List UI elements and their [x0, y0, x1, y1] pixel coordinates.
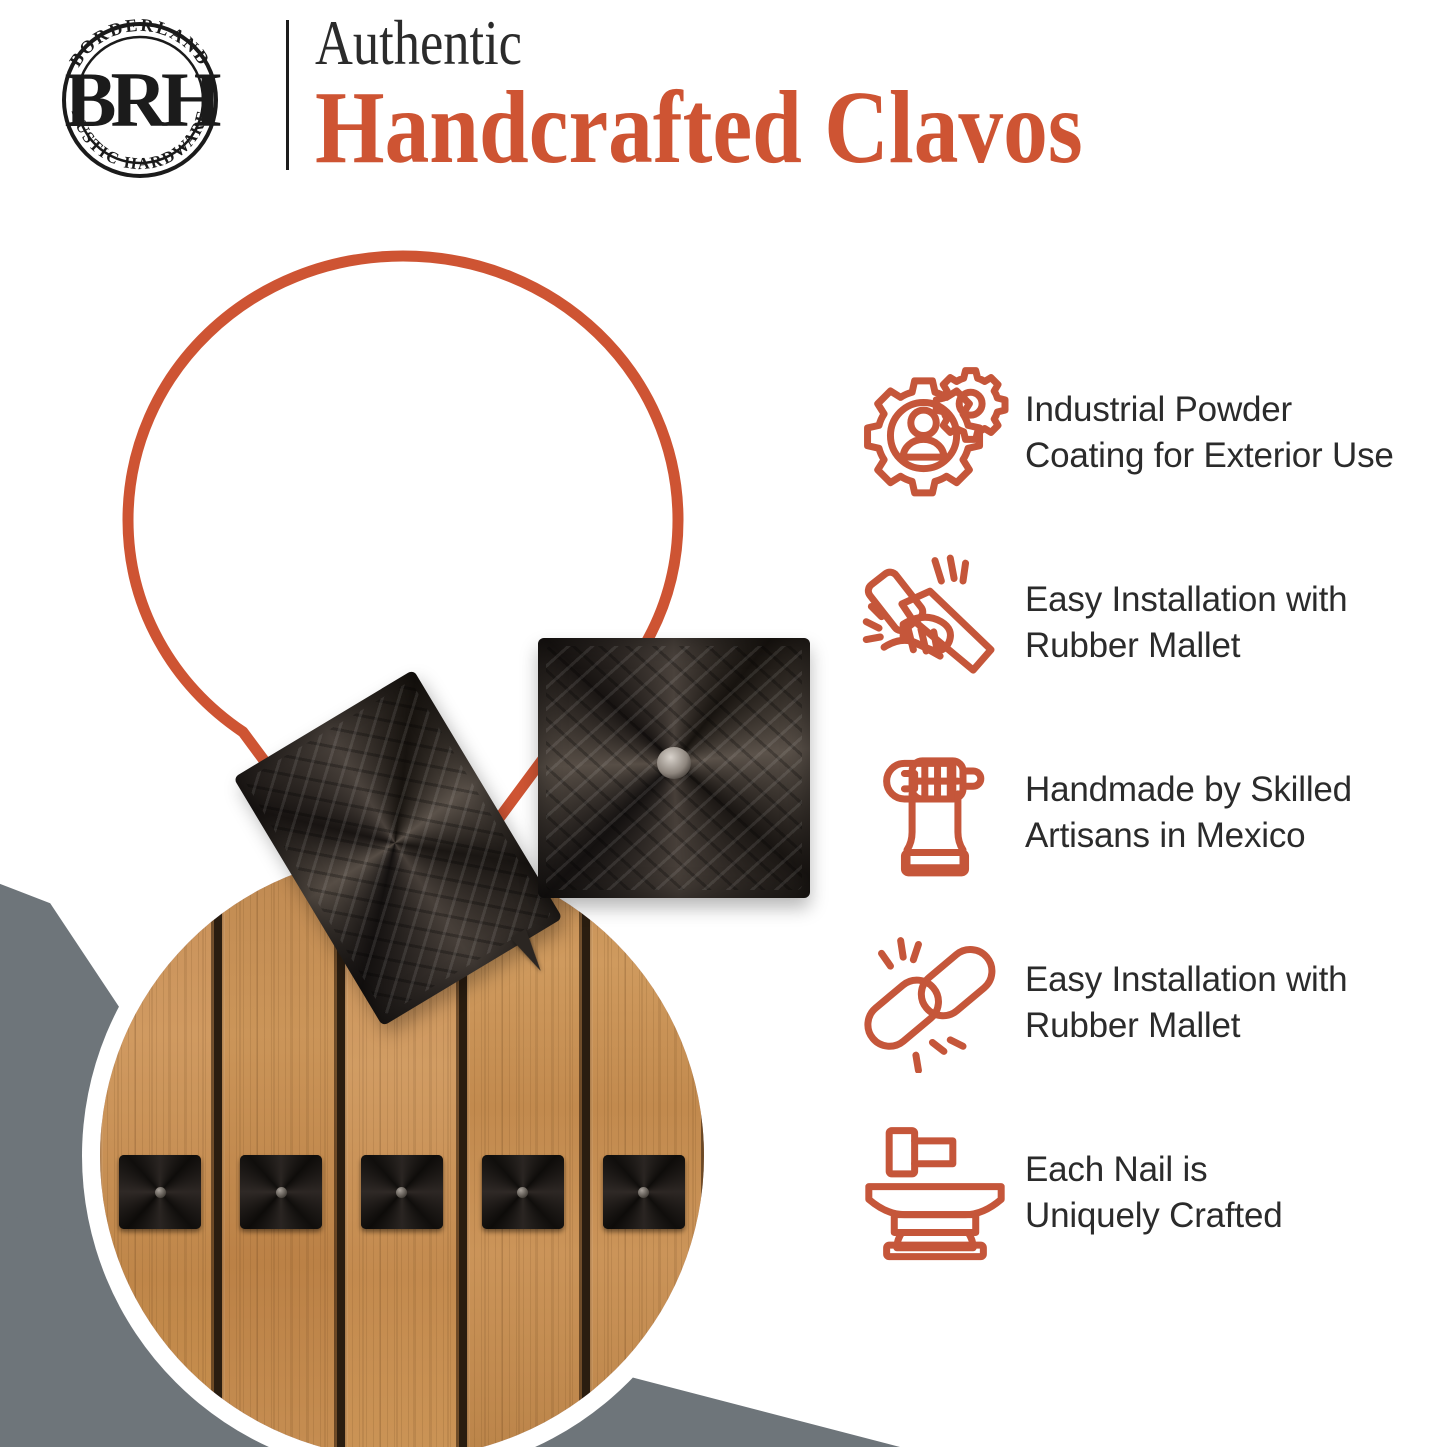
feature-item: Each Nail is Uniquely Crafted — [845, 1120, 1445, 1265]
gear-person-icon — [845, 360, 1025, 505]
fist-wrench-icon — [845, 740, 1025, 885]
feature-line: Artisans in Mexico — [1025, 813, 1445, 859]
brand-logo: BORDERLAND RUSTIC HARDWARE BRH — [45, 8, 270, 183]
hand-hammer-strike-icon — [845, 550, 1025, 695]
hero-visual — [0, 200, 800, 1447]
feature-list: Industrial Powder Coating for Exterior U… — [845, 360, 1445, 1265]
feature-text: Industrial Powder Coating for Exterior U… — [1025, 387, 1445, 478]
feature-line: Rubber Mallet — [1025, 623, 1445, 669]
feature-item: Industrial Powder Coating for Exterior U… — [845, 360, 1445, 505]
feature-item: Handmade by Skilled Artisans in Mexico — [845, 740, 1445, 885]
feature-line: Uniquely Crafted — [1025, 1193, 1445, 1239]
header-divider — [286, 20, 289, 170]
feature-item: Easy Installation with Rubber Mallet — [845, 550, 1445, 695]
page-title: Handcrafted Clavos — [315, 76, 1287, 180]
magnifier-callout — [118, 248, 688, 968]
brand-seal-icon: BORDERLAND RUSTIC HARDWARE BRH — [45, 8, 270, 183]
feature-line: Easy Installation with — [1025, 957, 1445, 1003]
feature-text: Each Nail is Uniquely Crafted — [1025, 1147, 1445, 1238]
feature-line: Rubber Mallet — [1025, 1003, 1445, 1049]
feature-item: Easy Installation with Rubber Mallet — [845, 930, 1445, 1075]
feature-line: Handmade by Skilled — [1025, 767, 1445, 813]
feature-line: Easy Installation with — [1025, 577, 1445, 623]
page-eyebrow: Authentic — [315, 12, 1242, 75]
product-clavo-front — [538, 638, 810, 898]
anvil-hammer-icon — [845, 1120, 1025, 1265]
header: BORDERLAND RUSTIC HARDWARE BRH Authentic… — [0, 0, 1445, 190]
logo-monogram: BRH — [64, 56, 220, 143]
header-titles: Authentic Handcrafted Clavos — [315, 10, 1445, 181]
feature-line: Each Nail is — [1025, 1147, 1445, 1193]
infographic-page: BORDERLAND RUSTIC HARDWARE BRH Authentic… — [0, 0, 1445, 1447]
feature-text: Easy Installation with Rubber Mallet — [1025, 957, 1445, 1048]
feature-text: Easy Installation with Rubber Mallet — [1025, 577, 1445, 668]
feature-line: Industrial Powder — [1025, 387, 1445, 433]
chain-links-icon — [845, 930, 1025, 1075]
feature-line: Coating for Exterior Use — [1025, 433, 1445, 479]
feature-text: Handmade by Skilled Artisans in Mexico — [1025, 767, 1445, 858]
